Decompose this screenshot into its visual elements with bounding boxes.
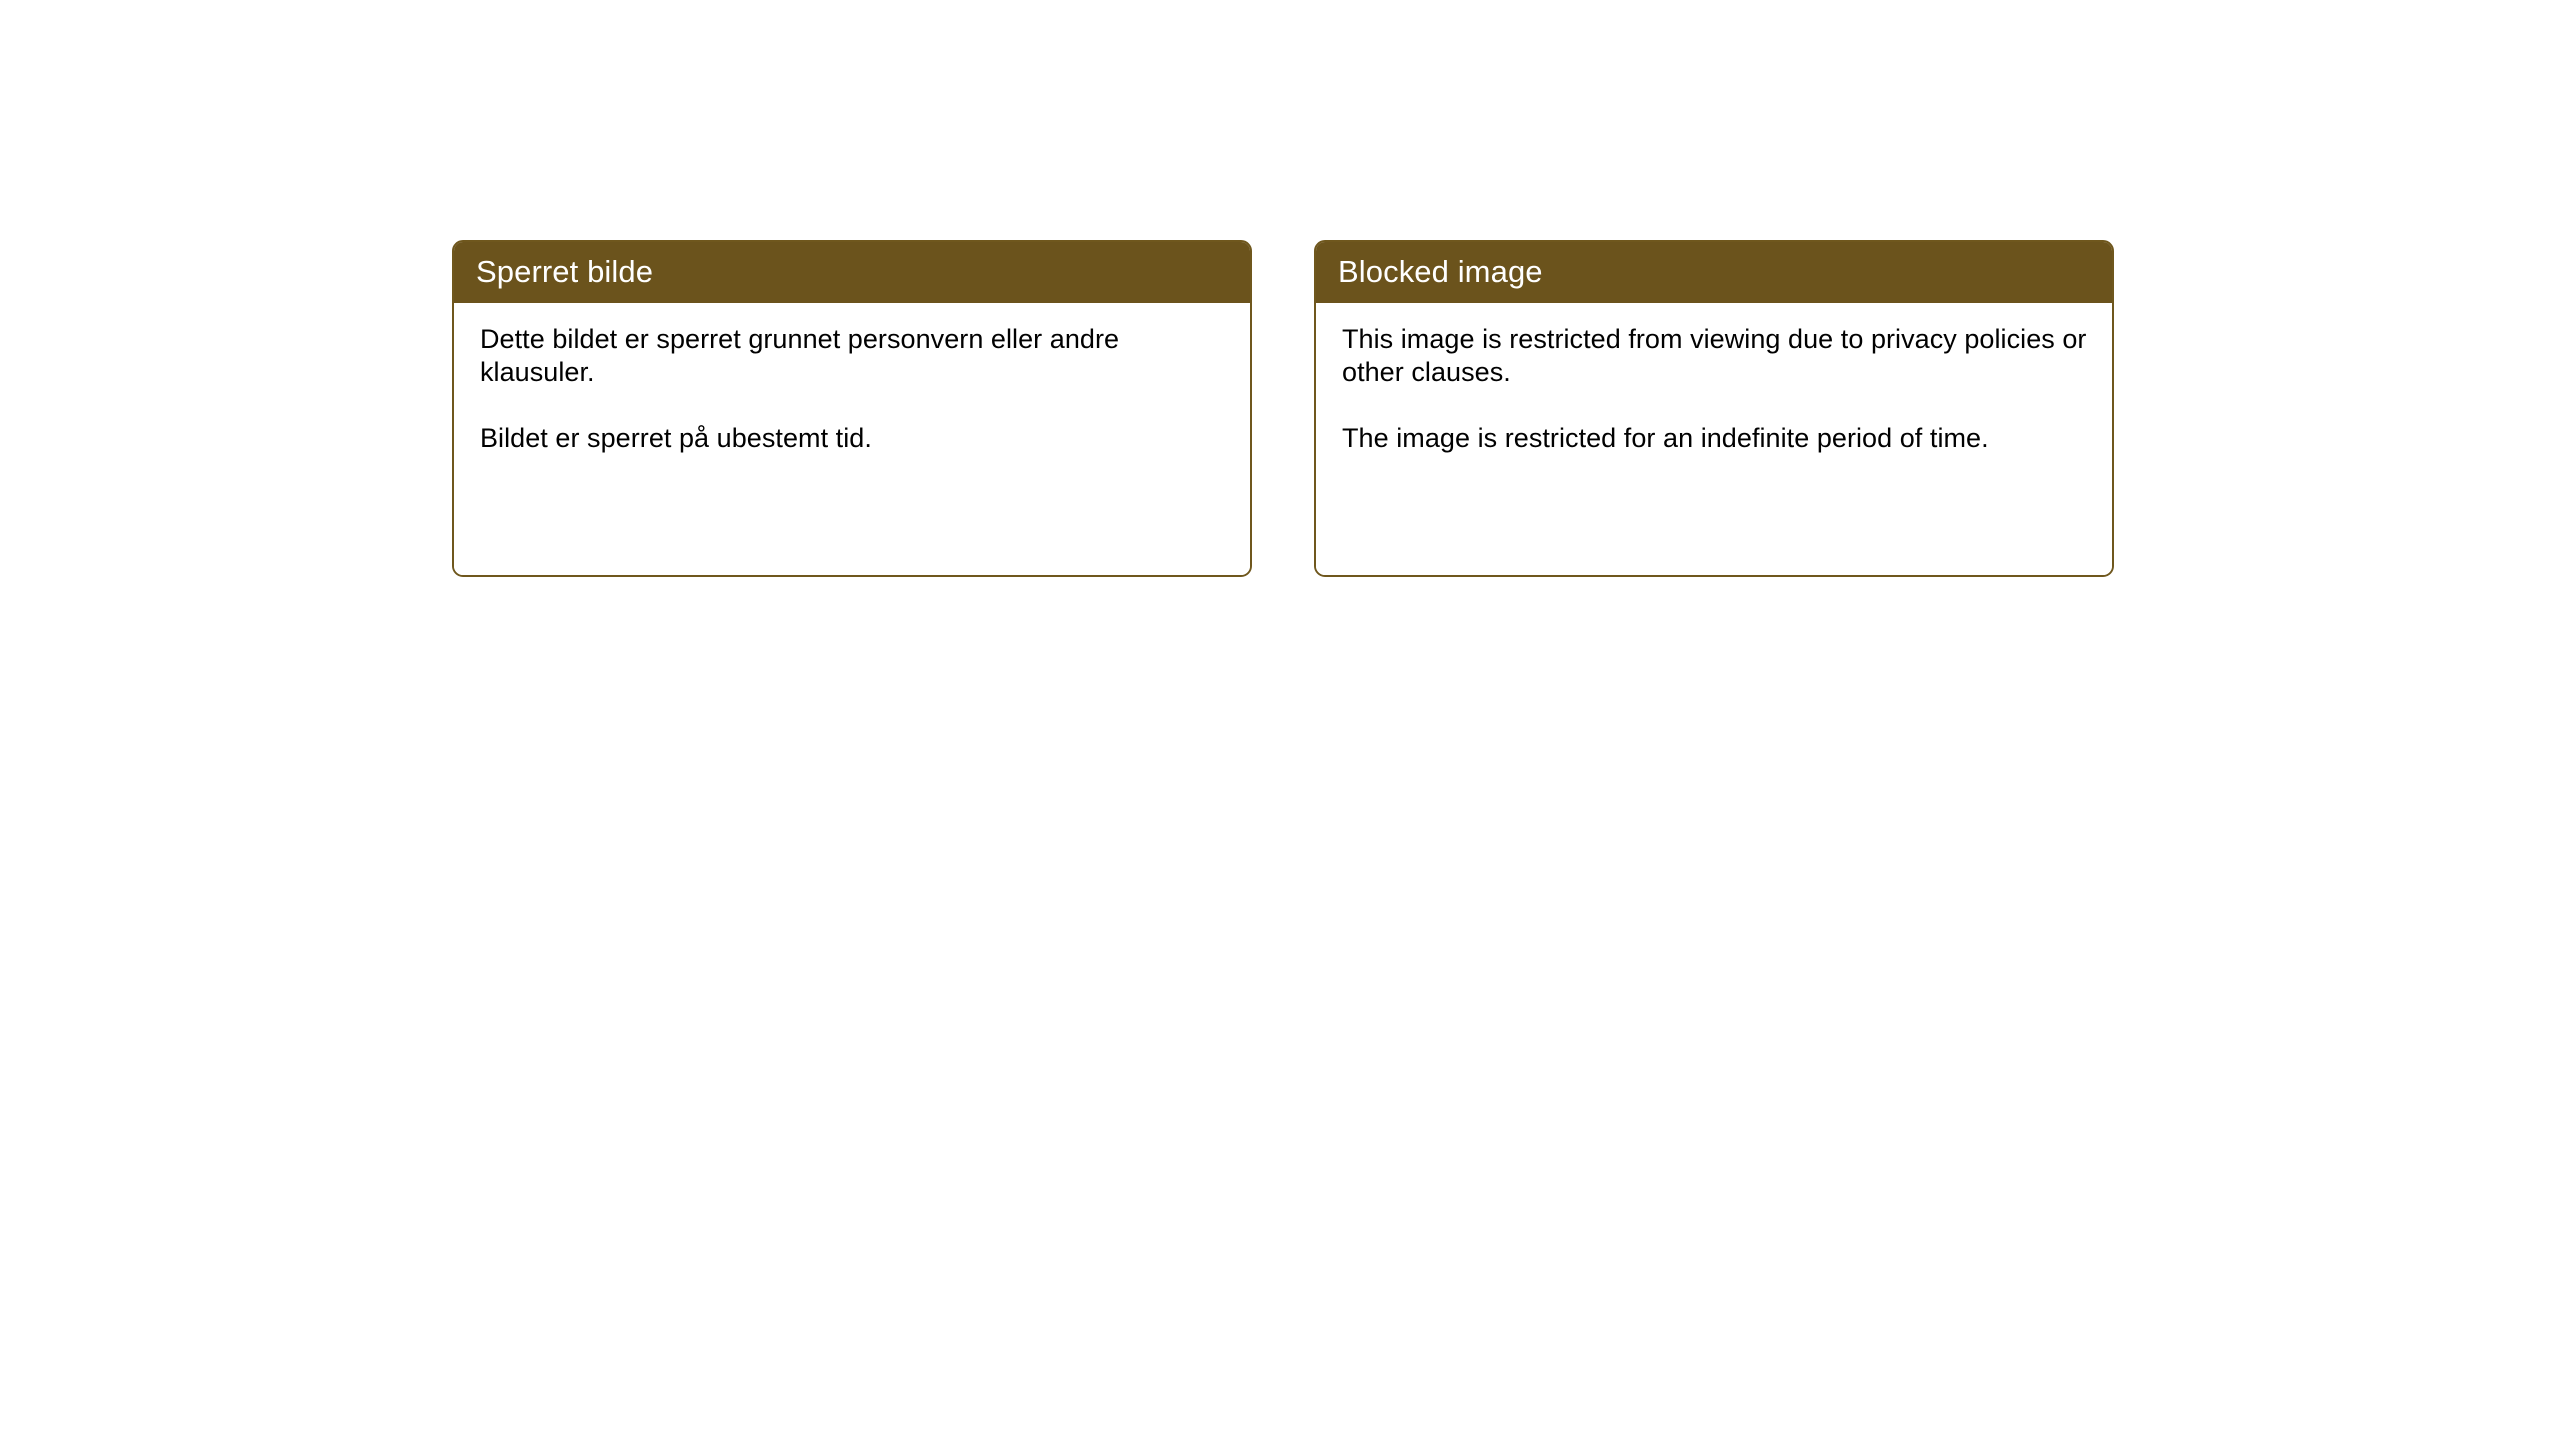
card-header-english: Blocked image bbox=[1314, 240, 2114, 303]
card-paragraph-secondary-norwegian: Bildet er sperret på ubestemt tid. bbox=[480, 422, 1230, 455]
card-title-english: Blocked image bbox=[1338, 256, 1543, 287]
card-title-norwegian: Sperret bilde bbox=[476, 256, 653, 287]
card-header-norwegian: Sperret bilde bbox=[452, 240, 1252, 303]
paragraph-spacer bbox=[480, 389, 1230, 422]
card-paragraph-primary-norwegian: Dette bildet er sperret grunnet personve… bbox=[480, 323, 1230, 389]
card-body-norwegian: Dette bildet er sperret grunnet personve… bbox=[454, 303, 1250, 575]
card-body-english: This image is restricted from viewing du… bbox=[1316, 303, 2112, 575]
card-paragraph-primary-english: This image is restricted from viewing du… bbox=[1342, 323, 2092, 389]
blocked-image-card-norwegian: Sperret bilde Dette bildet er sperret gr… bbox=[452, 240, 1252, 577]
paragraph-spacer bbox=[1342, 389, 2092, 422]
blocked-image-card-english: Blocked image This image is restricted f… bbox=[1314, 240, 2114, 577]
card-paragraph-secondary-english: The image is restricted for an indefinit… bbox=[1342, 422, 2092, 455]
blocked-image-notice-area: Sperret bilde Dette bildet er sperret gr… bbox=[452, 240, 2114, 577]
